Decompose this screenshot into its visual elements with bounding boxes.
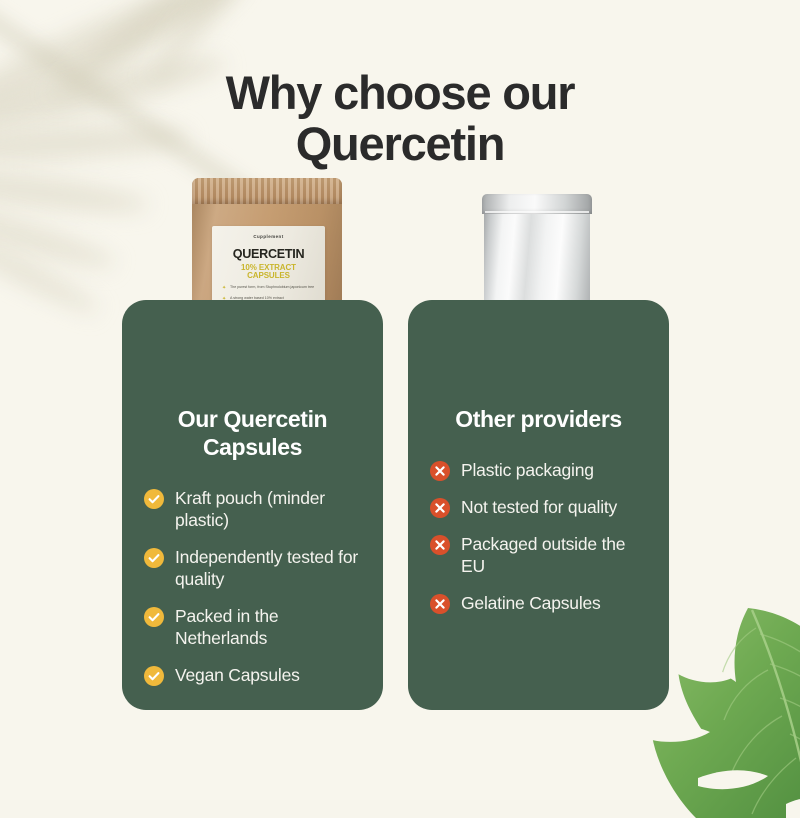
list-item-label: Kraft pouch (minder plastic) — [175, 487, 361, 531]
list-item: Vegan Capsules — [144, 664, 361, 686]
leaf-body — [650, 608, 800, 818]
check-circle-icon — [144, 548, 164, 568]
page-title-line-1: Why choose our — [226, 66, 575, 119]
list-item-label: Gelatine Capsules — [461, 592, 601, 614]
cross-circle-icon — [430, 535, 450, 555]
card-title: Other providers — [430, 300, 647, 433]
cross-circle-icon — [430, 461, 450, 481]
list-item: Gelatine Capsules — [430, 592, 647, 614]
list-item: Kraft pouch (minder plastic) — [144, 487, 361, 531]
page-title: Why choose our Quercetin — [0, 68, 800, 170]
list-item: Not tested for quality — [430, 496, 647, 518]
list-item: Packaged outside the EU — [430, 533, 647, 577]
list-item-label: Independently tested for quality — [175, 546, 361, 590]
label-bullet: ✦ The purest form, from Stuphnolobium ja… — [219, 285, 318, 291]
list-item: Independently tested for quality — [144, 546, 361, 590]
list-item-label: Plastic packaging — [461, 459, 594, 481]
list-item-label: Not tested for quality — [461, 496, 617, 518]
list-item: Plastic packaging — [430, 459, 647, 481]
monstera-leaf-image — [636, 608, 800, 818]
label-product-name: QUERCETIN — [219, 248, 318, 261]
comparison-card-ours: Our Quercetin Capsules Kraft pouch (mind… — [122, 300, 383, 710]
list-item-label: Packaged outside the EU — [461, 533, 647, 577]
feature-list: Plastic packaging Not tested for quality… — [430, 459, 647, 614]
check-circle-icon — [144, 666, 164, 686]
label-brand: Cupplement — [219, 234, 318, 239]
page-title-line-2: Quercetin — [296, 117, 505, 170]
cross-circle-icon — [430, 594, 450, 614]
list-item: Packed in the Netherlands — [144, 605, 361, 649]
pouch-seal — [192, 178, 342, 204]
card-title: Our Quercetin Capsules — [144, 300, 361, 461]
check-circle-icon — [144, 607, 164, 627]
label-bullet-text: The purest form, from Stuphnolobium japo… — [230, 285, 314, 291]
pouch-seal — [482, 194, 592, 214]
list-item-label: Packed in the Netherlands — [175, 605, 361, 649]
leaf-icon: ✦ — [222, 285, 227, 291]
cross-circle-icon — [430, 498, 450, 518]
list-item-label: Vegan Capsules — [175, 664, 300, 686]
label-product-subtitle: 10% EXTRACT CAPSULES — [219, 264, 318, 280]
feature-list: Kraft pouch (minder plastic) Independent… — [144, 487, 361, 686]
check-circle-icon — [144, 489, 164, 509]
palm-shadow-frond — [0, 161, 151, 220]
comparison-card-others: Other providers Plastic packaging Not te… — [408, 300, 669, 710]
